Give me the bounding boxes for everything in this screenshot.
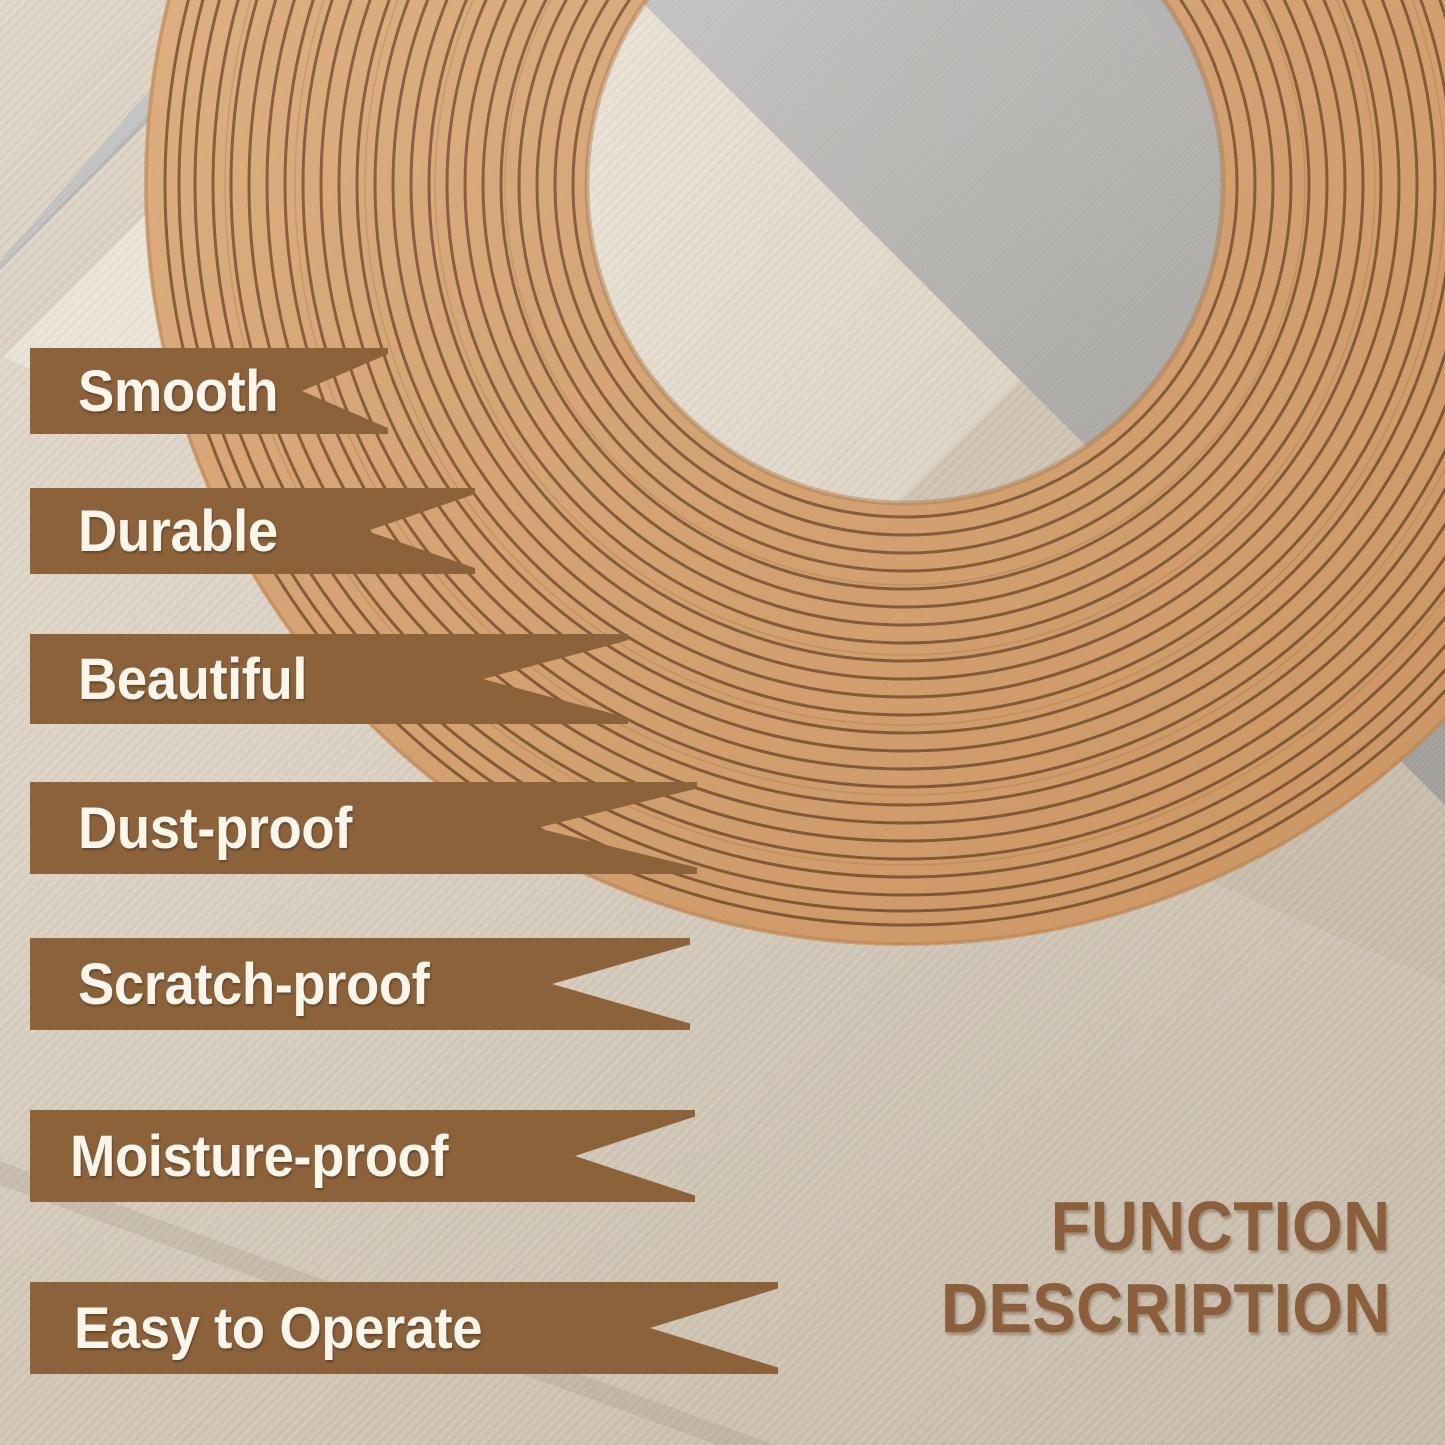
- feature-label: Durable: [78, 498, 278, 565]
- feature-label: Easy to Operate: [74, 1295, 482, 1362]
- feature-label: Moisture-proof: [70, 1123, 448, 1190]
- feature-ribbon[interactable]: Easy to Operate: [30, 1282, 778, 1374]
- feature-ribbon-list: Smooth Durable Beautiful Dust-proof Scra…: [0, 0, 1445, 1445]
- feature-ribbon[interactable]: Smooth: [30, 348, 388, 434]
- feature-label: Dust-proof: [78, 795, 352, 862]
- feature-label: Beautiful: [78, 646, 307, 713]
- product-infographic: Smooth Durable Beautiful Dust-proof Scra…: [0, 0, 1445, 1445]
- feature-ribbon[interactable]: Durable: [30, 488, 475, 574]
- feature-ribbon[interactable]: Moisture-proof: [30, 1110, 695, 1202]
- feature-label: Smooth: [78, 358, 278, 425]
- feature-ribbon[interactable]: Dust-proof: [30, 782, 697, 874]
- feature-ribbon[interactable]: Scratch-proof: [30, 938, 690, 1030]
- feature-label: Scratch-proof: [78, 951, 429, 1018]
- feature-ribbon[interactable]: Beautiful: [30, 634, 628, 724]
